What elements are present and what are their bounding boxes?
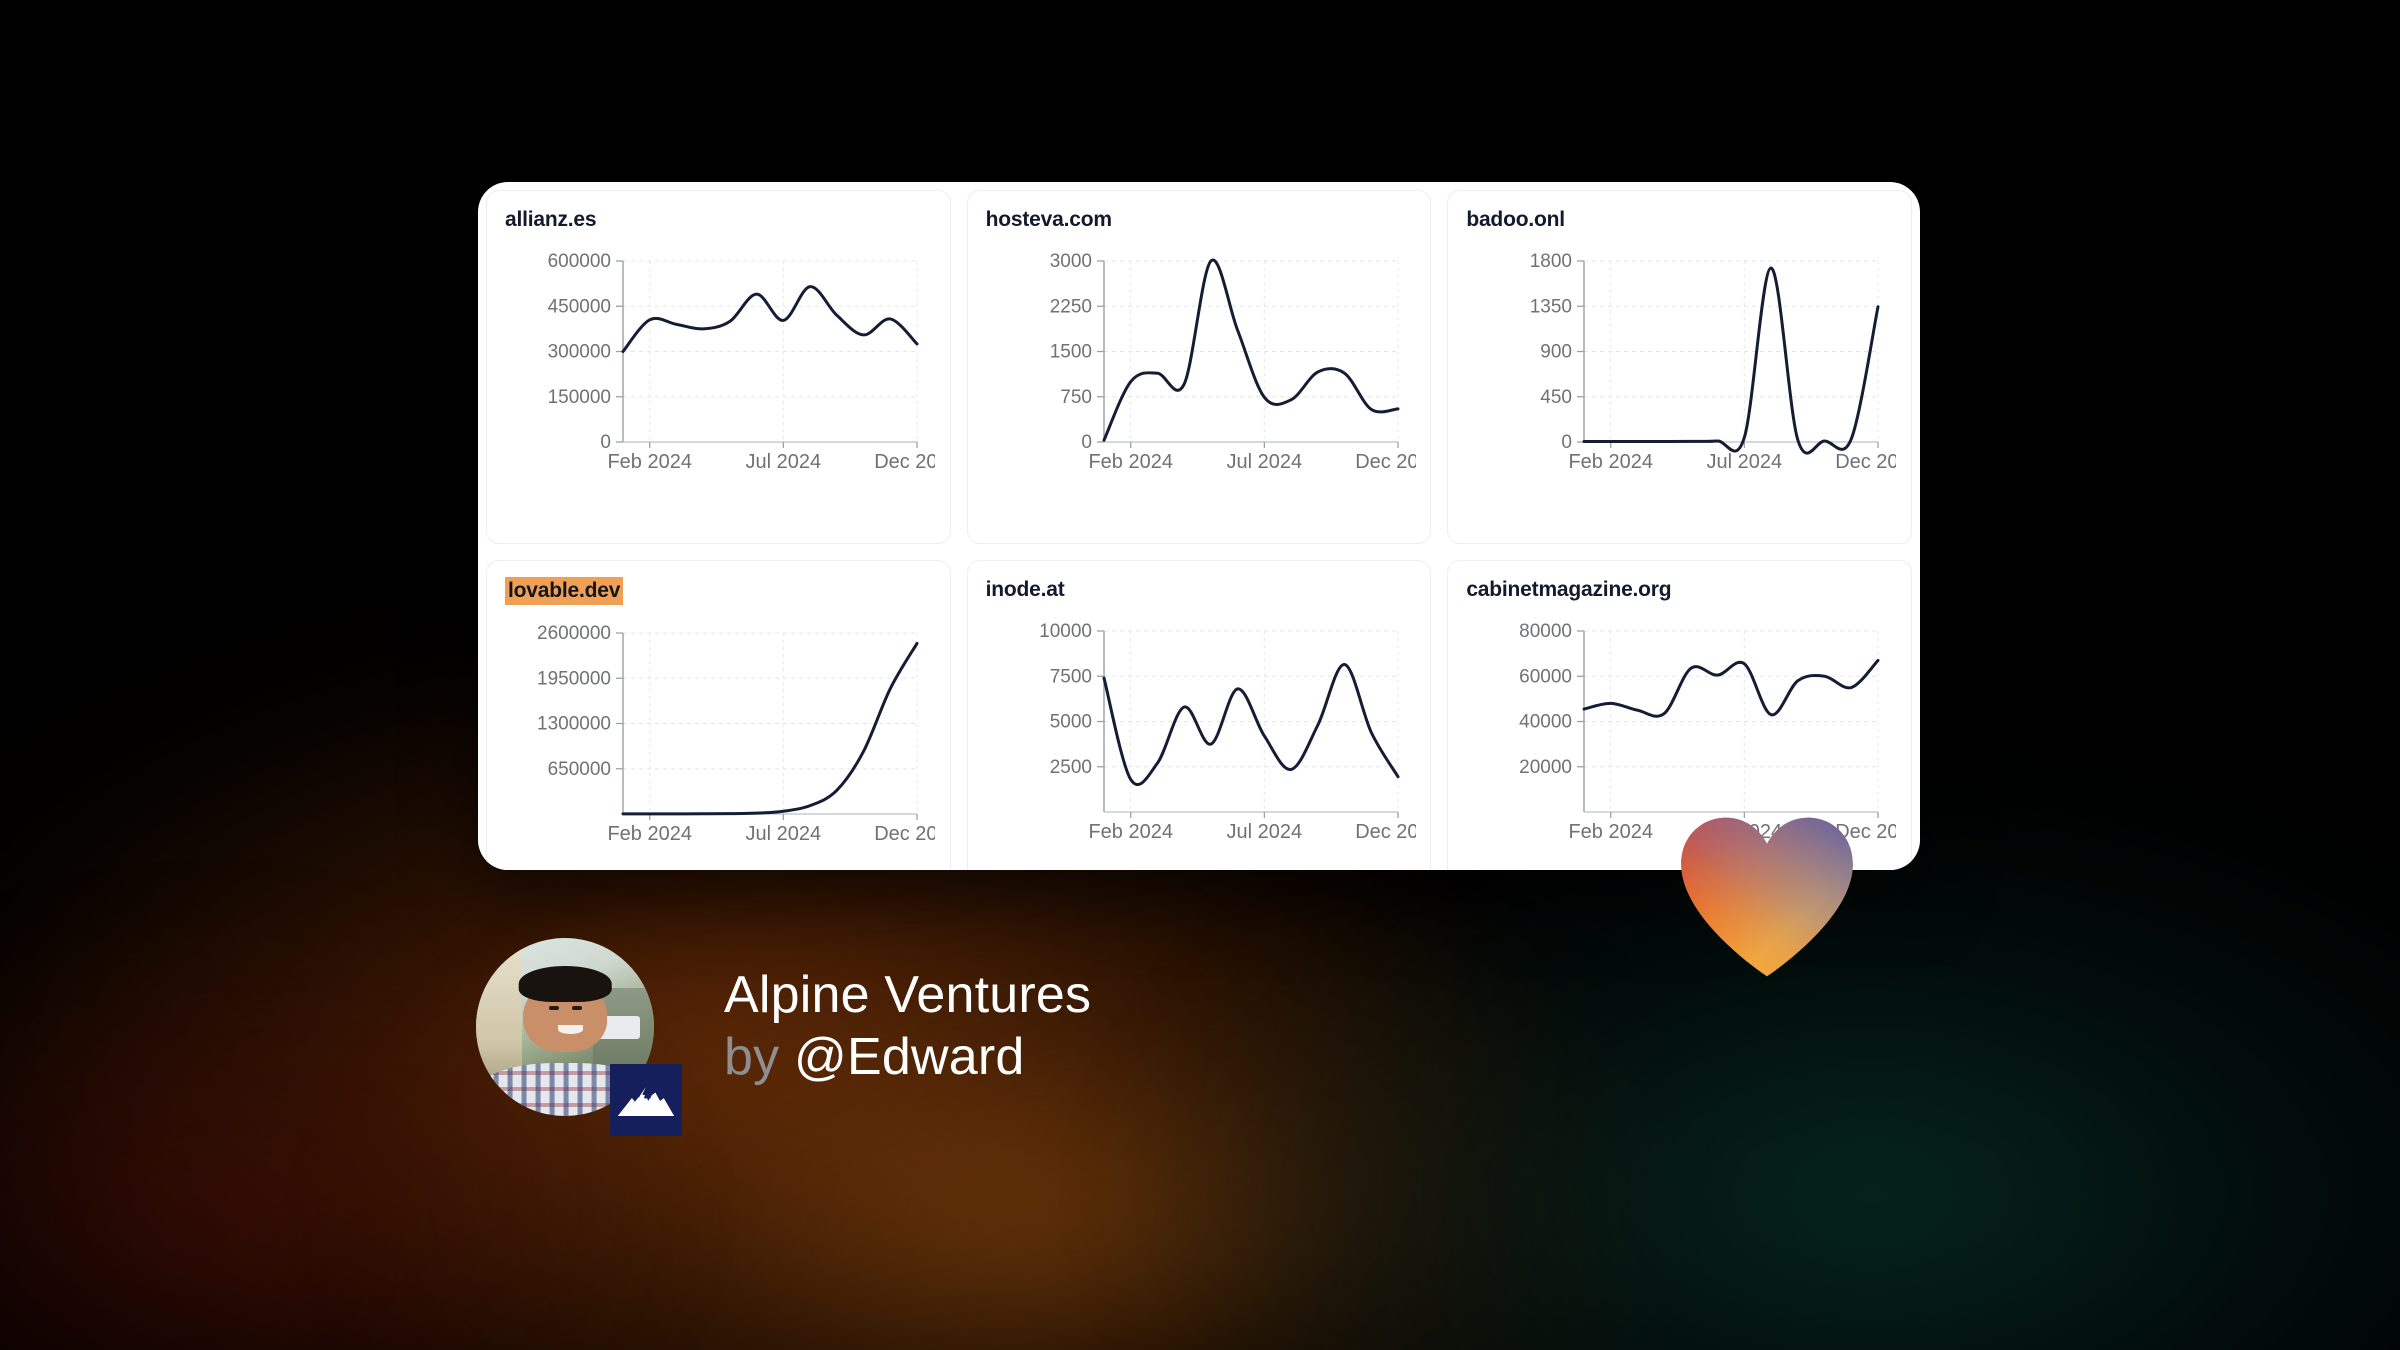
svg-text:150000: 150000 <box>548 387 611 408</box>
svg-text:60000: 60000 <box>1519 667 1572 688</box>
svg-text:650000: 650000 <box>548 759 611 780</box>
svg-text:Jul 2024: Jul 2024 <box>746 823 822 845</box>
svg-text:Feb 2024: Feb 2024 <box>1088 451 1173 473</box>
svg-text:450: 450 <box>1541 387 1573 408</box>
svg-text:2250: 2250 <box>1049 297 1091 318</box>
chart-series-line <box>1584 661 1878 717</box>
chart-series-line <box>623 287 917 352</box>
chart-card[interactable]: badoo.onl045090013501800Feb 2024Jul 2024… <box>1447 190 1912 544</box>
svg-text:450000: 450000 <box>548 297 611 318</box>
avatar-hair <box>519 966 612 1002</box>
svg-text:Feb 2024: Feb 2024 <box>1088 821 1173 843</box>
mountain-icon <box>610 1064 682 1136</box>
svg-text:1300000: 1300000 <box>537 714 611 735</box>
svg-text:Jul 2024: Jul 2024 <box>1707 451 1783 473</box>
svg-text:1350: 1350 <box>1530 297 1572 318</box>
svg-text:Dec 2024: Dec 2024 <box>874 451 935 473</box>
svg-text:Dec 2024: Dec 2024 <box>1355 451 1416 473</box>
heart-icon <box>1672 812 1862 980</box>
svg-text:Feb 2024: Feb 2024 <box>607 451 692 473</box>
svg-text:10000: 10000 <box>1039 621 1092 642</box>
svg-text:80000: 80000 <box>1519 621 1572 642</box>
dashboard-panel: allianz.es0150000300000450000600000Feb 2… <box>478 182 1920 870</box>
svg-text:Feb 2024: Feb 2024 <box>607 823 692 845</box>
svg-text:1500: 1500 <box>1049 342 1091 363</box>
svg-text:Dec 2024: Dec 2024 <box>1355 821 1416 843</box>
chart-series-line <box>1584 268 1878 453</box>
footer: Alpine Ventures by @Edward <box>476 938 1091 1116</box>
chart-plot: 25005000750010000Feb 2024Jul 2024Dec 202… <box>986 617 1413 852</box>
svg-text:2600000: 2600000 <box>537 623 611 644</box>
svg-text:7500: 7500 <box>1049 667 1091 688</box>
chart-plot: 0150000300000450000600000Feb 2024Jul 202… <box>505 247 932 482</box>
svg-text:300000: 300000 <box>548 342 611 363</box>
svg-text:3000: 3000 <box>1049 251 1091 272</box>
avatar-eye-right <box>572 1006 582 1011</box>
avatar-wrapper[interactable] <box>476 938 654 1116</box>
chart-card[interactable]: lovable.dev650000130000019500002600000Fe… <box>486 560 951 870</box>
svg-text:750: 750 <box>1060 387 1092 408</box>
byline: by @Edward <box>724 1027 1091 1089</box>
svg-text:Jul 2024: Jul 2024 <box>1226 821 1302 843</box>
chart-title: hosteva.com <box>986 207 1112 233</box>
svg-text:Feb 2024: Feb 2024 <box>1569 821 1654 843</box>
svg-text:Dec 2024: Dec 2024 <box>874 823 935 845</box>
svg-text:40000: 40000 <box>1519 712 1572 733</box>
svg-text:2500: 2500 <box>1049 757 1091 778</box>
svg-text:600000: 600000 <box>548 251 611 272</box>
chart-card[interactable]: hosteva.com0750150022503000Feb 2024Jul 2… <box>967 190 1432 544</box>
chart-grid: allianz.es0150000300000450000600000Feb 2… <box>478 182 1920 870</box>
chart-plot: 0750150022503000Feb 2024Jul 2024Dec 2024 <box>986 247 1413 482</box>
svg-text:20000: 20000 <box>1519 757 1572 778</box>
footer-titles: Alpine Ventures by @Edward <box>724 965 1091 1089</box>
page-title: Alpine Ventures <box>724 965 1091 1027</box>
chart-title: lovable.dev <box>505 577 623 605</box>
svg-text:0: 0 <box>1562 432 1573 453</box>
chart-plot: 045090013501800Feb 2024Jul 2024Dec 2024 <box>1466 247 1893 482</box>
chart-series-line <box>1104 260 1398 440</box>
svg-text:Dec 2024: Dec 2024 <box>1836 451 1897 473</box>
svg-text:900: 900 <box>1541 342 1573 363</box>
chart-series-line <box>623 644 917 814</box>
svg-text:5000: 5000 <box>1049 712 1091 733</box>
svg-text:Jul 2024: Jul 2024 <box>746 451 822 473</box>
chart-title: inode.at <box>986 577 1065 603</box>
svg-text:0: 0 <box>1081 432 1092 453</box>
chart-card[interactable]: allianz.es0150000300000450000600000Feb 2… <box>486 190 951 544</box>
chart-title: badoo.onl <box>1466 207 1565 233</box>
avatar-smile <box>558 1025 583 1034</box>
svg-text:1800: 1800 <box>1530 251 1572 272</box>
svg-text:Feb 2024: Feb 2024 <box>1569 451 1654 473</box>
chart-card[interactable]: inode.at25005000750010000Feb 2024Jul 202… <box>967 560 1432 870</box>
avatar-eye-left <box>549 1006 559 1011</box>
author-handle: @Edward <box>794 1028 1025 1086</box>
chart-title: allianz.es <box>505 207 596 233</box>
byline-prefix: by <box>724 1028 779 1086</box>
svg-text:Jul 2024: Jul 2024 <box>1226 451 1302 473</box>
chart-plot: 650000130000019500002600000Feb 2024Jul 2… <box>505 619 932 854</box>
svg-text:1950000: 1950000 <box>537 669 611 690</box>
chart-title: cabinetmagazine.org <box>1466 577 1671 603</box>
svg-text:0: 0 <box>600 432 611 453</box>
